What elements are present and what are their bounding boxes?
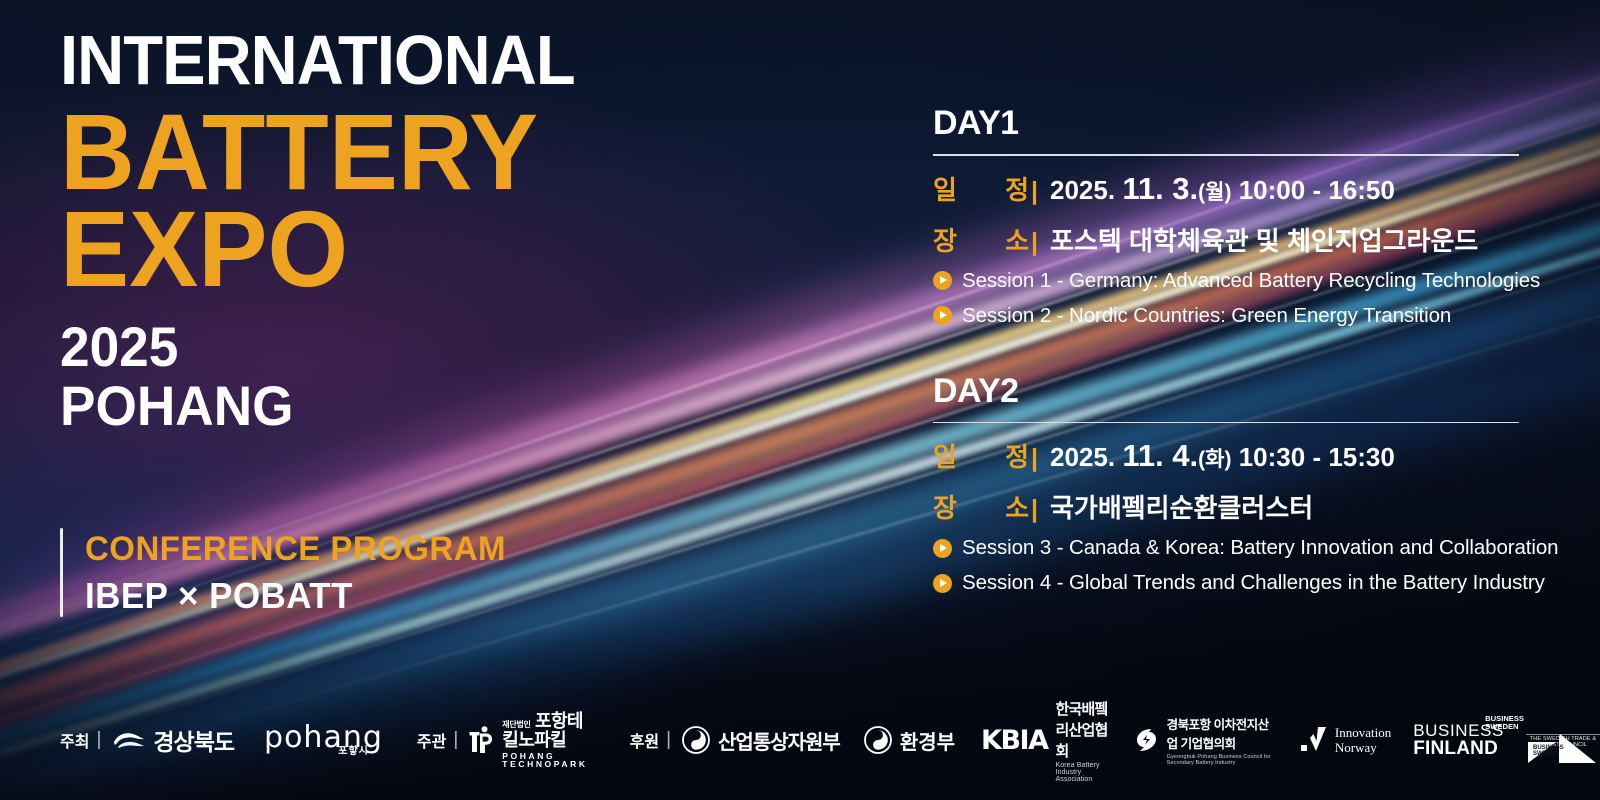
day1-session-title-1: Session 1 - Germany: Advanced Battery Re… bbox=[962, 269, 1540, 293]
sponsor-separator: | bbox=[666, 729, 671, 751]
sponsor-label: 후원 bbox=[630, 728, 659, 752]
day1-heading: DAY1 bbox=[933, 104, 1519, 143]
day1-venue-separator: | bbox=[1031, 228, 1038, 257]
title-line-international: INTERNATIONAL bbox=[60, 26, 711, 95]
kbia-english: Korea Battery Industry Association bbox=[1055, 762, 1109, 783]
program-subtitle-block: CONFERENCE PROGRAM IBEP × POBATT bbox=[60, 528, 519, 617]
technopark-korean: 포항테킬노파킬 bbox=[502, 711, 583, 750]
kbia-korean: 한국배펰리산업협회 bbox=[1055, 698, 1109, 761]
host-group: 주최 | 경상북도 bbox=[60, 723, 234, 757]
sponsor-group: 후원 | 산업통상자원부 bbox=[630, 726, 840, 755]
day2-venue-row: 장 소 | 국가배펰리순환클러스터 bbox=[933, 488, 1519, 525]
day2-venue-value: 국가배펰리순환클러스터 bbox=[1050, 488, 1313, 525]
motie-name: 산업통상자원부 bbox=[718, 726, 840, 755]
environment-name: 환경부 bbox=[900, 726, 955, 755]
business-sweden-logo: BUSINESS SWEDEN BUSINESS SWEDEN THE SWED… bbox=[1526, 732, 1600, 749]
day2-venue-label-b: 소 bbox=[1005, 488, 1029, 525]
day1-date-monthday: 11. 3. bbox=[1122, 171, 1198, 206]
technopark-english: POHANG TECHNOPARK bbox=[502, 752, 587, 769]
day2-date-year: 2025. bbox=[1050, 442, 1115, 472]
day1-venue-row: 장 소 | 포스텍 대학체육관 및 체인지업그라운드 bbox=[933, 221, 1519, 258]
play-icon bbox=[933, 539, 952, 558]
program-vertical-rule bbox=[60, 528, 63, 617]
day1-schedule-separator: | bbox=[1031, 177, 1038, 206]
day2-session-item-2: Session 4 - Global Trends and Challenges… bbox=[933, 571, 1519, 595]
kbia-mark: KBIA bbox=[981, 725, 1047, 756]
day1-schedule-label-b: 정 bbox=[1005, 170, 1029, 207]
day2-block: DAY2 일 정 | 2025. 11. 4.(화) 10:30 - 15:30… bbox=[933, 372, 1519, 596]
business-sweden-line2: SWEDEN bbox=[1485, 723, 1524, 731]
day2-date-monthday: 11. 4. bbox=[1122, 438, 1198, 473]
headline-block: INTERNATIONAL BATTERY EXPO 2025 POHANG bbox=[60, 26, 760, 436]
motie-logo: 산업통상자원부 bbox=[682, 726, 840, 755]
conference-banner: INTERNATIONAL BATTERY EXPO 2025 POHANG C… bbox=[0, 0, 1600, 800]
day2-divider bbox=[933, 422, 1519, 424]
innovation-norway-line1: Innovation bbox=[1335, 725, 1391, 740]
schedule-panel: DAY1 일 정 | 2025. 11. 3.(월) 10:00 - 16:50… bbox=[933, 104, 1519, 595]
day1-weekday: (월) bbox=[1198, 181, 1231, 204]
day1-venue-label: 장 소 bbox=[933, 221, 1029, 258]
organizer-separator: | bbox=[453, 729, 458, 751]
day1-block: DAY1 일 정 | 2025. 11. 3.(월) 10:00 - 16:50… bbox=[933, 104, 1519, 328]
innovation-norway-line2: Norway bbox=[1335, 740, 1391, 755]
innovation-norway-wordmark: Innovation Norway bbox=[1335, 725, 1391, 756]
gyeongbuk-swoosh-icon bbox=[112, 730, 146, 750]
day1-session-title-2: Session 2 - Nordic Countries: Green Ener… bbox=[962, 304, 1451, 328]
day1-time: 10:00 - 16:50 bbox=[1239, 175, 1395, 205]
pohang-city-logo: pohang 포햫시 bbox=[264, 724, 383, 756]
battery-council-logo: 경북포항 이차전지산업 기업협의회 Gyeongbuk Pohang Busin… bbox=[1134, 714, 1273, 766]
title-city: POHANG bbox=[60, 376, 725, 435]
day1-schedule-value: 2025. 11. 3.(월) 10:00 - 16:50 bbox=[1050, 171, 1395, 207]
business-sweden-wordmark: BUSINESS SWEDEN BUSINESS SWEDEN THE SWED… bbox=[1526, 732, 1600, 749]
day2-weekday: (화) bbox=[1198, 448, 1231, 471]
title-line-expo: EXPO bbox=[60, 200, 732, 297]
day2-schedule-value: 2025. 11. 4.(화) 10:30 - 15:30 bbox=[1050, 438, 1395, 474]
play-icon bbox=[933, 271, 952, 290]
day1-divider bbox=[933, 154, 1519, 156]
gyeongsangbukdo-logo: 경상북도 bbox=[112, 723, 234, 757]
gyeongbuk-name: 경상북도 bbox=[153, 723, 234, 757]
day1-venue-label-a: 장 bbox=[933, 221, 957, 258]
play-icon bbox=[933, 574, 952, 593]
day1-schedule-row: 일 정 | 2025. 11. 3.(월) 10:00 - 16:50 bbox=[933, 170, 1519, 207]
day2-time: 10:30 - 15:30 bbox=[1239, 442, 1395, 472]
title-year: 2025 bbox=[60, 317, 725, 376]
day1-venue-label-b: 소 bbox=[1005, 221, 1029, 258]
business-sweden-name: BUSINESS SWEDEN bbox=[1485, 715, 1524, 730]
business-sweden-flag-label: BUSINESS SWEDEN bbox=[1533, 745, 1564, 757]
footer-logo-strip: 주최 | 경상북도 pohang 포햫시 주관 | bbox=[0, 680, 1600, 800]
play-icon bbox=[933, 306, 952, 325]
organizer-group: 주관 | 재단법인 포항테킬노파킬 POHANG TECHN bbox=[417, 712, 588, 769]
council-s-mark-icon bbox=[1134, 727, 1160, 753]
day2-heading: DAY2 bbox=[933, 372, 1519, 411]
day2-schedule-label-a: 일 bbox=[933, 437, 957, 474]
day2-venue-label-a: 장 bbox=[933, 488, 957, 525]
taegeuk-icon bbox=[864, 726, 892, 754]
day1-schedule-label: 일 정 bbox=[933, 170, 1029, 207]
title-line-battery: BATTERY bbox=[60, 103, 732, 200]
innovation-norway-check-icon bbox=[1299, 725, 1327, 755]
innovation-norway-logo: Innovation Norway bbox=[1299, 725, 1391, 756]
technopark-monogram-icon bbox=[469, 725, 495, 755]
day1-venue-value: 포스텍 대학체육관 및 체인지업그라운드 bbox=[1050, 221, 1478, 258]
pohang-technopark-logo: 재단법인 포항테킬노파킬 POHANG TECHNOPARK bbox=[469, 712, 587, 769]
host-separator: | bbox=[96, 729, 101, 751]
day2-schedule-label: 일 정 bbox=[933, 437, 1029, 474]
council-english: Gyeongbuk Pohang Business Council for Se… bbox=[1167, 754, 1273, 766]
program-title: CONFERENCE PROGRAM bbox=[85, 530, 506, 569]
organizer-label: 주관 bbox=[417, 728, 446, 752]
business-finland-line2: FINLAND bbox=[1413, 739, 1504, 758]
day1-schedule-label-a: 일 bbox=[933, 170, 957, 207]
day1-date-year: 2025. bbox=[1050, 175, 1115, 205]
host-label: 주최 bbox=[60, 728, 89, 752]
taegeuk-icon bbox=[682, 726, 710, 754]
day2-session-title-1: Session 3 - Canada & Korea: Battery Inno… bbox=[962, 536, 1558, 560]
day1-session-item-1: Session 1 - Germany: Advanced Battery Re… bbox=[933, 269, 1519, 293]
day2-venue-separator: | bbox=[1031, 495, 1038, 524]
day2-session-item-1: Session 3 - Canada & Korea: Battery Inno… bbox=[933, 536, 1519, 560]
day2-schedule-row: 일 정 | 2025. 11. 4.(화) 10:30 - 15:30 bbox=[933, 437, 1519, 474]
council-korean: 경북포항 이차전지산업 기업협의회 bbox=[1167, 714, 1273, 752]
technopark-prefix: 재단법인 bbox=[502, 720, 530, 729]
kbia-wordmark: 한국배펰리산업협회 Korea Battery Industry Associa… bbox=[1055, 698, 1109, 783]
program-brands: IBEP × POBATT bbox=[85, 575, 506, 617]
technopark-wordmark: 재단법인 포항테킬노파킬 POHANG TECHNOPARK bbox=[502, 712, 587, 769]
day2-schedule-separator: | bbox=[1031, 444, 1038, 473]
ministry-of-environment-logo: 환경부 bbox=[864, 726, 955, 755]
day2-schedule-label-b: 정 bbox=[1005, 437, 1029, 474]
council-wordmark: 경북포항 이차전지산업 기업협의회 Gyeongbuk Pohang Busin… bbox=[1167, 714, 1273, 766]
day1-session-item-2: Session 2 - Nordic Countries: Green Ener… bbox=[933, 304, 1519, 328]
day2-session-title-2: Session 4 - Global Trends and Challenges… bbox=[962, 571, 1545, 595]
pohang-wordmark: pohang 포햫시 bbox=[264, 724, 383, 756]
kbia-logo: KBIA 한국배펰리산업협회 Korea Battery Industry As… bbox=[981, 698, 1110, 783]
day2-venue-label: 장 소 bbox=[933, 488, 1029, 525]
